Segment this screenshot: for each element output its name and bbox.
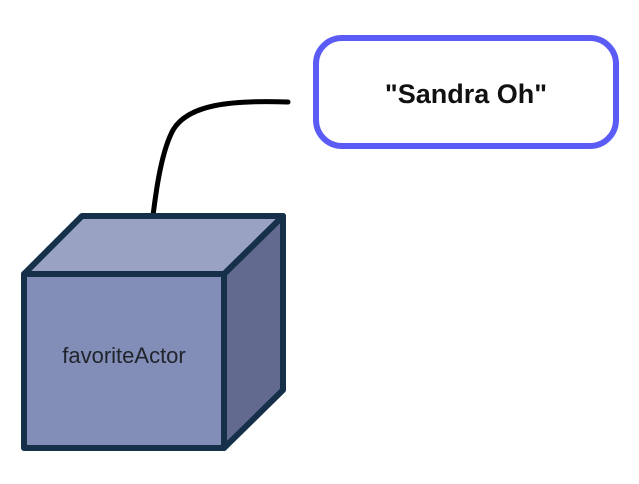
variable-cube[interactable]: favoriteActor [24, 216, 283, 448]
diagram-canvas: "Sandra Oh" favoriteActor [0, 0, 639, 484]
cube-label: favoriteActor [62, 343, 186, 368]
diagram-scene: "Sandra Oh" favoriteActor [0, 0, 639, 484]
value-box[interactable]: "Sandra Oh" [316, 38, 616, 146]
assignment-arrow-line [151, 102, 288, 232]
value-box-label: "Sandra Oh" [385, 79, 547, 109]
